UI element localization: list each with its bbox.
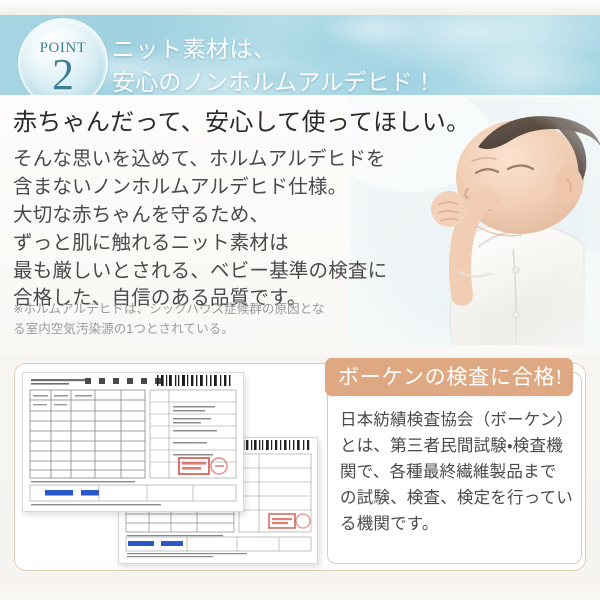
top-decorative-strip <box>0 0 600 15</box>
header-band: POINT 2 ニット素材は、 安心のノンホルムアルデヒド！ <box>0 15 600 95</box>
text-line-4: ずっと肌に触れるニット素材は <box>13 230 393 258</box>
pass-badge-label: ボーケンの検査に合格! <box>338 367 563 388</box>
text-line-2: 含まないノンホルムアルデヒド仕様。 <box>13 174 393 202</box>
text-line-1: 日本紡績検査協会（ボーケン） <box>340 407 578 433</box>
text-line-1: ※ホルムアルデヒドは、シックハウス症候群の原因とな <box>13 300 413 320</box>
lead-headline: 赤ちゃんだって、安心して使ってほしい。 <box>13 108 470 138</box>
text-line-4: の試験、検査、検定を行ってい <box>340 485 578 511</box>
page-title-line1: ニット素材は、 <box>112 34 592 67</box>
text-line-2: る室内空気汚染源の1つとされている。 <box>13 320 413 340</box>
footnote: ※ホルムアルデヒドは、シックハウス症候群の原因となる室内空気汚染源の1つとされて… <box>13 300 413 340</box>
pass-badge[interactable]: ボーケンの検査に合格! <box>325 358 573 396</box>
certificate-images <box>22 372 322 567</box>
point-badge: POINT 2 <box>20 20 106 95</box>
body-copy: そんな思いを込めて、ホルムアルデヒドを含まないノンホルムアルデヒド仕様。大切な赤… <box>13 146 393 313</box>
point-badge-number: 2 <box>52 54 74 95</box>
text-line-5: 最も厳しいとされる、ベビー基準の検査に <box>13 258 393 286</box>
bottom-decorative-strip <box>0 576 600 600</box>
text-line-2: とは、第三者民間試験・検査機 <box>340 433 578 459</box>
promo-page: POINT 2 ニット素材は、 安心のノンホルムアルデヒド！ <box>0 0 600 600</box>
text-line-3: 大切な赤ちゃんを守るため、 <box>13 202 393 230</box>
info-card-body: 日本紡績検査協会（ボーケン）とは、第三者民間試験・検査機関で、各種最終繊維製品ま… <box>340 407 578 537</box>
page-title: ニット素材は、 安心のノンホルムアルデヒド！ <box>112 34 592 95</box>
page-title-line2: 安心のノンホルムアルデヒド！ <box>112 67 592 95</box>
text-line-1: そんな思いを込めて、ホルムアルデヒドを <box>13 146 393 174</box>
text-line-5: る機関です。 <box>340 511 578 537</box>
text-line-3: 関で、各種最終繊維製品まで <box>340 459 578 485</box>
certificate-front <box>22 372 244 512</box>
